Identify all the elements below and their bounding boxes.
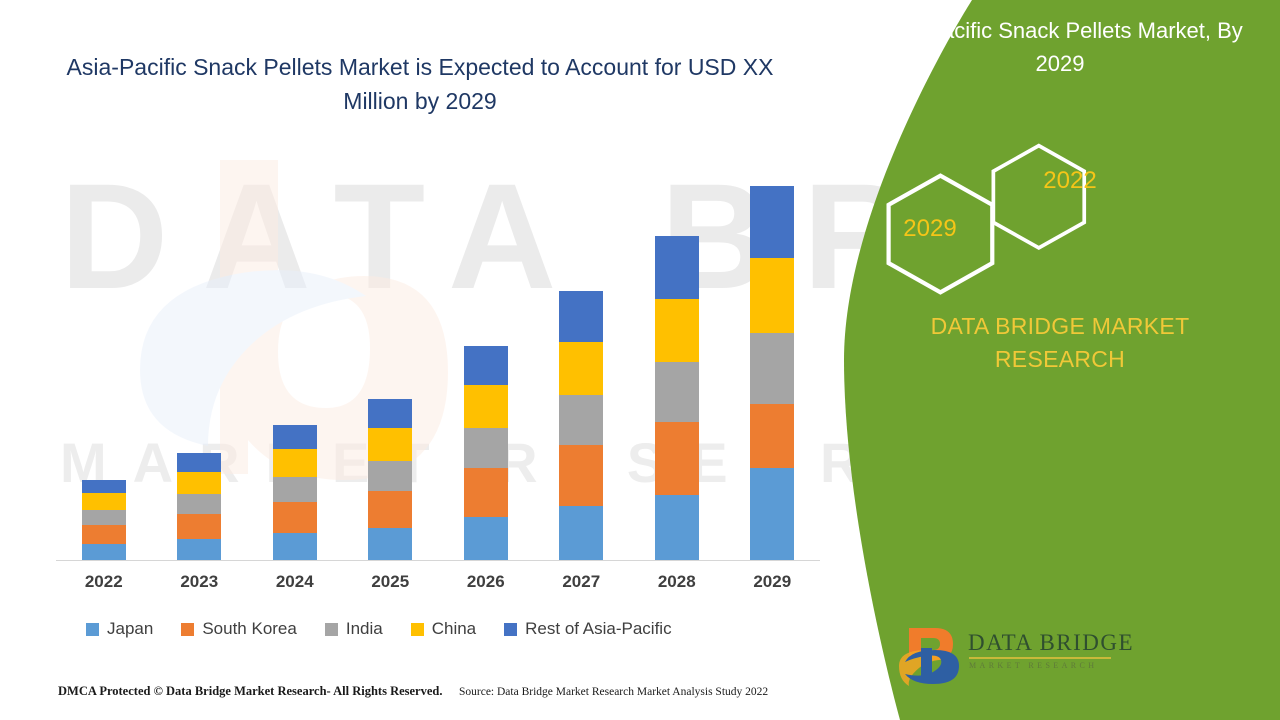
- legend-label: South Korea: [202, 619, 297, 639]
- legend-label: Japan: [107, 619, 153, 639]
- bar-column: [177, 453, 221, 561]
- bar-segment: [82, 493, 126, 510]
- chart-legend: JapanSouth KoreaIndiaChinaRest of Asia-P…: [86, 615, 672, 643]
- legend-item[interactable]: Rest of Asia-Pacific: [504, 619, 671, 639]
- infographic-canvas: DATA BRIDGE MARKET RESEARCH Asia-Pacific…: [0, 0, 1280, 720]
- x-axis-label: 2024: [260, 572, 330, 592]
- x-axis-label: 2028: [642, 572, 712, 592]
- bar-segment: [273, 449, 317, 477]
- logo-divider: [969, 657, 1111, 659]
- x-axis-line: [56, 560, 820, 561]
- logo-wordmark: DATA BRIDGE: [968, 630, 1134, 656]
- bar-column: [559, 291, 603, 561]
- bar-segment: [177, 539, 221, 561]
- bar-segment: [559, 445, 603, 506]
- footer-source: Source: Data Bridge Market Research Mark…: [459, 686, 768, 698]
- legend-swatch-icon: [181, 623, 194, 636]
- legend-item[interactable]: South Korea: [181, 619, 297, 639]
- bar-segment: [559, 291, 603, 342]
- bar-segment: [273, 477, 317, 502]
- stacked-bar-chart: 20222023202420252026202720282029: [0, 0, 900, 600]
- bar-segment: [655, 495, 699, 561]
- bar-segment: [464, 468, 508, 517]
- bar-segment: [177, 453, 221, 472]
- legend-item[interactable]: China: [411, 619, 476, 639]
- bar-segment: [750, 468, 794, 561]
- bar-segment: [464, 346, 508, 385]
- bar-segment: [368, 461, 412, 491]
- bar-segment: [655, 422, 699, 495]
- bar-segment: [655, 299, 699, 362]
- bar-segment: [82, 544, 126, 561]
- bar-segment: [82, 525, 126, 544]
- bar-segment: [177, 494, 221, 514]
- x-axis-labels: 20222023202420252026202720282029: [56, 572, 820, 598]
- legend-label: India: [346, 619, 383, 639]
- company-logo: DATA BRIDGE MARKET RESEARCH: [895, 622, 1125, 694]
- bar-column: [82, 480, 126, 561]
- chart-panel: Asia-Pacific Snack Pellets Market is Exp…: [0, 0, 975, 720]
- legend-item[interactable]: India: [325, 619, 383, 639]
- bar-segment: [177, 472, 221, 494]
- x-axis-label: 2029: [737, 572, 807, 592]
- bar-column: [655, 236, 699, 561]
- bar-segment: [750, 186, 794, 258]
- bar-segment: [559, 506, 603, 561]
- legend-swatch-icon: [86, 623, 99, 636]
- green-panel-title: Asia-Pacific Snack Pellets Market, By 20…: [860, 14, 1260, 80]
- bar-segment: [368, 428, 412, 461]
- hex-label-2029: 2029: [840, 215, 1020, 243]
- bar-segment: [559, 342, 603, 395]
- bar-segment: [464, 428, 508, 468]
- bar-segment: [655, 236, 699, 299]
- data-bridge-logo-icon: [895, 622, 967, 688]
- bar-segment: [750, 258, 794, 333]
- hex-label-2022: 2022: [980, 167, 1160, 195]
- bar-segment: [464, 385, 508, 428]
- x-axis-label: 2023: [164, 572, 234, 592]
- bar-segment: [750, 404, 794, 468]
- footer-copyright: DMCA Protected © Data Bridge Market Rese…: [58, 684, 443, 699]
- x-axis-label: 2022: [69, 572, 139, 592]
- x-axis-label: 2027: [546, 572, 616, 592]
- bar-column: [273, 425, 317, 561]
- bar-segment: [273, 502, 317, 533]
- bar-column: [368, 399, 412, 561]
- bar-segment: [273, 533, 317, 561]
- logo-tagline: MARKET RESEARCH: [969, 661, 1097, 670]
- brand-name-line1: DATA BRIDGE MARKET: [931, 313, 1190, 339]
- plot-area: [56, 170, 820, 561]
- bar-segment: [655, 362, 699, 422]
- bar-segment: [82, 480, 126, 493]
- bar-segment: [464, 517, 508, 561]
- green-side-panel: Asia-Pacific Snack Pellets Market, By 20…: [840, 0, 1280, 720]
- hexagon-badges: 2029 2022: [840, 140, 1280, 300]
- legend-item[interactable]: Japan: [86, 619, 153, 639]
- legend-swatch-icon: [325, 623, 338, 636]
- bar-segment: [368, 491, 412, 528]
- x-axis-label: 2025: [355, 572, 425, 592]
- legend-label: Rest of Asia-Pacific: [525, 619, 671, 639]
- brand-name-line2: RESEARCH: [995, 346, 1125, 372]
- bar-segment: [559, 395, 603, 445]
- bar-segment: [368, 399, 412, 428]
- bar-column: [750, 186, 794, 561]
- legend-label: China: [432, 619, 476, 639]
- x-axis-label: 2026: [451, 572, 521, 592]
- legend-swatch-icon: [504, 623, 517, 636]
- bar-segment: [177, 514, 221, 539]
- bar-segment: [368, 528, 412, 561]
- bar-segment: [273, 425, 317, 449]
- bar-column: [464, 346, 508, 561]
- legend-swatch-icon: [411, 623, 424, 636]
- bar-segment: [750, 333, 794, 404]
- bar-segment: [82, 510, 126, 525]
- brand-name: DATA BRIDGE MARKET RESEARCH: [860, 310, 1260, 375]
